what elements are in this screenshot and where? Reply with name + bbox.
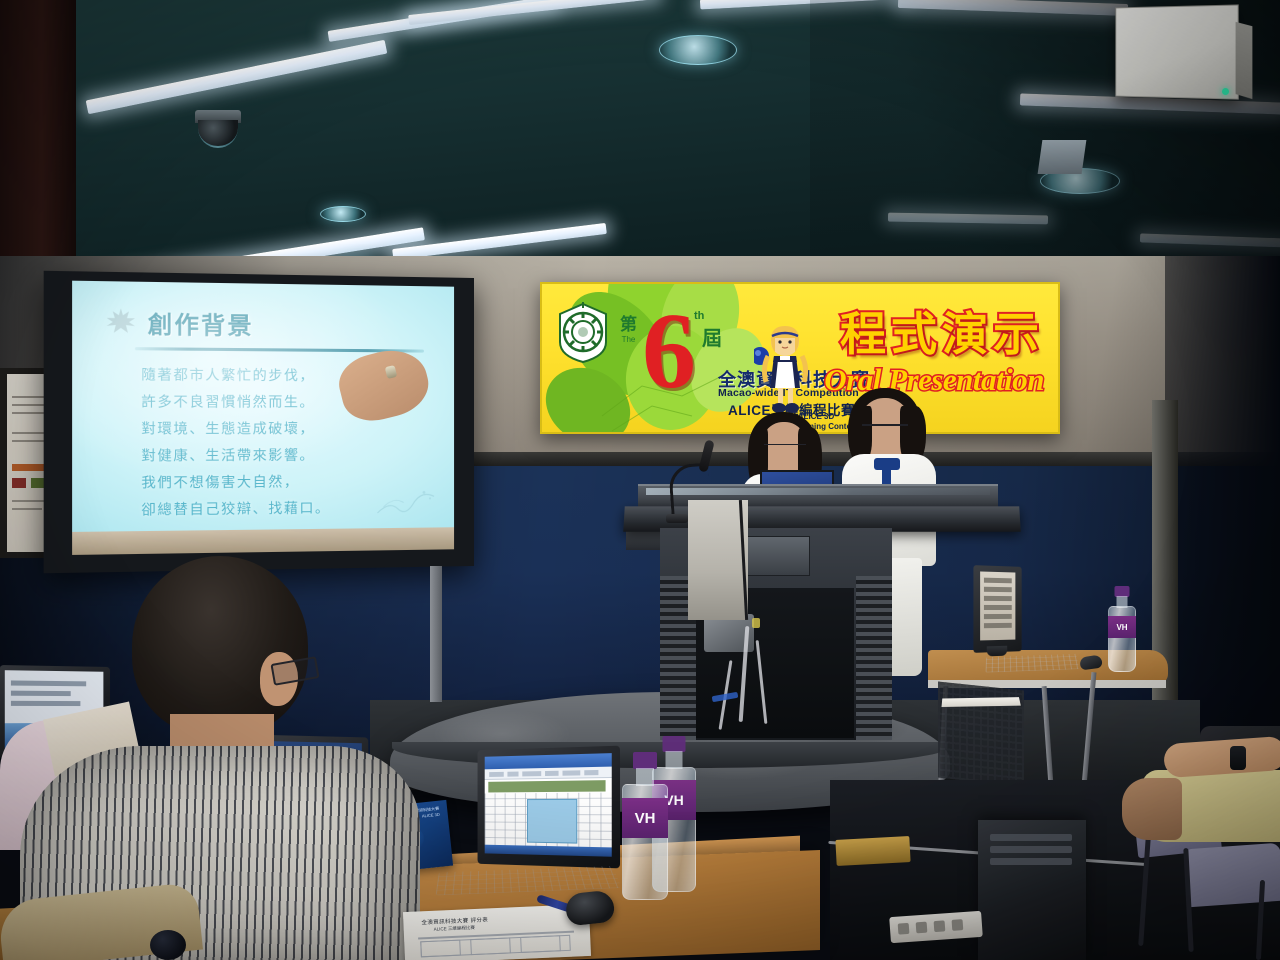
camera-dome [198, 120, 238, 148]
judge-laptop[interactable] [430, 748, 620, 900]
scoring-sheet-title: 全澳資訊科技大賽 評分表 [421, 915, 488, 926]
audience-member-seated [1142, 726, 1280, 876]
banner-edition-number: 6 [642, 298, 696, 406]
spreadsheet-toolbar [485, 767, 612, 780]
alice-character-icon [754, 326, 816, 418]
presenter-glasses-icon [862, 424, 908, 429]
fluorescent-light [392, 223, 607, 260]
spreadsheet-header-band [488, 780, 605, 792]
speaker-status-led [1222, 88, 1229, 95]
microphone-capsule [698, 439, 714, 472]
bottle-label: VH [622, 798, 668, 838]
taskbar[interactable] [485, 845, 612, 857]
slide-line: 對健康、生活帶來影響。 [141, 443, 432, 464]
scoring-sheet[interactable]: 全澳資訊科技大賽 評分表 ALICE 三維編程比賽 [403, 904, 591, 960]
slide-title: 創作背景 [148, 305, 254, 341]
printed-sheet [942, 697, 1021, 707]
presenter-glasses-icon [764, 444, 806, 449]
banner-ordinal-cn: 第 [620, 315, 637, 334]
chair-adjustment-knob[interactable] [150, 930, 186, 960]
podium-vent-right [856, 576, 892, 740]
laptop-screen[interactable] [485, 753, 612, 857]
seated-person-leg [1122, 778, 1182, 840]
stage-support-pillar [430, 566, 442, 702]
banner-ordinal-en: The [620, 336, 637, 344]
slide-line: 對環境、生態造成破壞， [141, 417, 432, 438]
bottle-label: VH [1108, 616, 1136, 638]
ceiling [0, 0, 1280, 300]
microphone-base [666, 514, 688, 523]
judge-head [132, 556, 308, 736]
dome-security-camera-icon [192, 110, 244, 148]
scoring-sheet-subtitle: ALICE 三維編程比賽 [434, 925, 475, 933]
bottle-cap [663, 736, 686, 752]
slide-watermark-signature [373, 482, 438, 519]
projector-mount-icon [1038, 140, 1087, 174]
ceiling-downlight-icon [659, 35, 737, 65]
banner-ordinal: 第 The [620, 316, 637, 344]
lcd-monitor [973, 565, 1021, 653]
water-bottle: VH [622, 752, 668, 900]
slide-title-row: 創作背景 [105, 304, 254, 341]
wristwatch-icon [1230, 746, 1246, 770]
monitor-stand [987, 646, 1007, 657]
maple-leaf-icon [105, 306, 137, 338]
macau-education-emblem-icon [556, 302, 610, 364]
wall-right-dark-area [1165, 256, 1280, 766]
monitor-screen [980, 571, 1015, 640]
gooseneck-microphone-icon [666, 440, 726, 520]
cable-connector [752, 618, 760, 628]
banner-number-unit: 屆 [702, 322, 722, 351]
banner-number-suffix: th [694, 310, 704, 322]
ceiling-downlight-icon [320, 206, 366, 222]
bottle-cap [633, 752, 657, 769]
water-bottle: VH [1108, 586, 1136, 672]
wall-column-left [0, 0, 76, 258]
desktop-pc-tower [978, 820, 1086, 960]
monitor-content-rows [984, 578, 1012, 629]
laptop-lid [478, 746, 620, 869]
ceiling-speaker-icon [1115, 4, 1238, 99]
screen-lower-border [72, 527, 454, 555]
presentation-hall-scene: 創作背景 隨著都市人繁忙的步伐， 許多不良習慣悄然而生。 對環境、生態造成破壞，… [0, 0, 1280, 960]
selected-cell-range[interactable] [527, 799, 577, 844]
audio-amplifier-box [835, 836, 910, 866]
banner-main-title-cn: 程式演示 [840, 298, 1044, 364]
projection-screen: 創作背景 隨著都市人繁忙的步伐， 許多不良習慣悄然而生。 對環境、生態造成破壞，… [44, 271, 474, 573]
fluorescent-light [86, 40, 388, 115]
